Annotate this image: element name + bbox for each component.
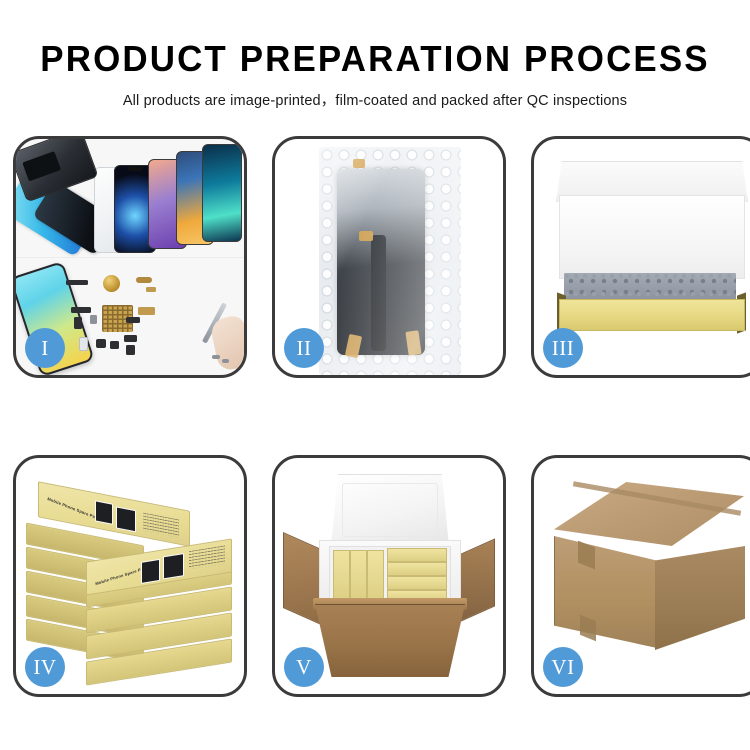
spec-text-lines xyxy=(189,546,225,570)
tape-tab xyxy=(359,231,373,241)
small-part xyxy=(136,277,152,283)
packed-box xyxy=(367,550,384,600)
small-part xyxy=(124,335,137,342)
tape-tab xyxy=(353,159,365,168)
process-step-panel-1: I xyxy=(13,136,247,378)
small-part xyxy=(66,280,88,285)
packed-box xyxy=(387,562,447,576)
small-part xyxy=(126,345,135,355)
product-preparation-infographic: PRODUCT PREPARATION PROCESS All products… xyxy=(0,0,750,750)
packed-box xyxy=(350,550,367,600)
small-part xyxy=(79,337,88,351)
small-part xyxy=(74,317,82,329)
page-title: PRODUCT PREPARATION PROCESS xyxy=(11,40,739,78)
small-part xyxy=(96,339,106,348)
badge-iv: IV xyxy=(25,647,65,687)
badge-iii: III xyxy=(543,328,583,368)
small-part xyxy=(138,307,155,315)
badge-ii: II xyxy=(284,328,324,368)
small-part xyxy=(212,355,220,359)
process-step-grid: I II xyxy=(13,136,737,697)
coin-part xyxy=(103,275,120,292)
carton-front-face xyxy=(554,536,657,648)
flex-cable xyxy=(371,235,386,351)
small-part xyxy=(146,287,156,292)
phone-display-teal xyxy=(202,144,242,242)
process-step-panel-6: VI xyxy=(531,455,750,697)
process-step-panel-4: Mobile Phone Spare Parts Mobile Phone Sp… xyxy=(13,455,247,697)
surface-line xyxy=(16,257,244,258)
box-back-wall xyxy=(559,195,745,279)
yellow-mailer-box xyxy=(559,299,745,331)
product-window xyxy=(141,559,160,584)
small-part xyxy=(90,315,97,324)
carton-side-face xyxy=(655,546,745,650)
badge-i: I xyxy=(25,328,65,368)
product-window xyxy=(116,506,136,532)
product-window xyxy=(163,553,184,579)
foam-lid xyxy=(331,474,449,546)
small-part xyxy=(110,341,119,349)
small-part xyxy=(126,317,140,323)
hand xyxy=(209,314,244,372)
badge-v: V xyxy=(284,647,324,687)
small-part xyxy=(222,359,229,363)
page-subtitle: All products are image-printed，film-coat… xyxy=(0,89,750,110)
spec-text-lines xyxy=(143,513,179,538)
process-step-panel-3: III xyxy=(531,136,750,378)
packed-box xyxy=(333,550,350,600)
box-label: Mobile Phone Spare Parts xyxy=(47,496,101,521)
carton-body xyxy=(315,604,465,677)
packed-box xyxy=(387,576,447,590)
carton-top-face xyxy=(554,482,744,546)
notch-icon xyxy=(127,167,143,171)
badge-vi: VI xyxy=(543,647,583,687)
header: PRODUCT PREPARATION PROCESS All products… xyxy=(0,0,750,110)
process-step-panel-5: V xyxy=(272,455,506,697)
process-step-panel-2: II xyxy=(272,136,506,378)
small-part xyxy=(71,307,91,313)
product-window xyxy=(95,500,113,524)
packed-box xyxy=(387,548,447,562)
